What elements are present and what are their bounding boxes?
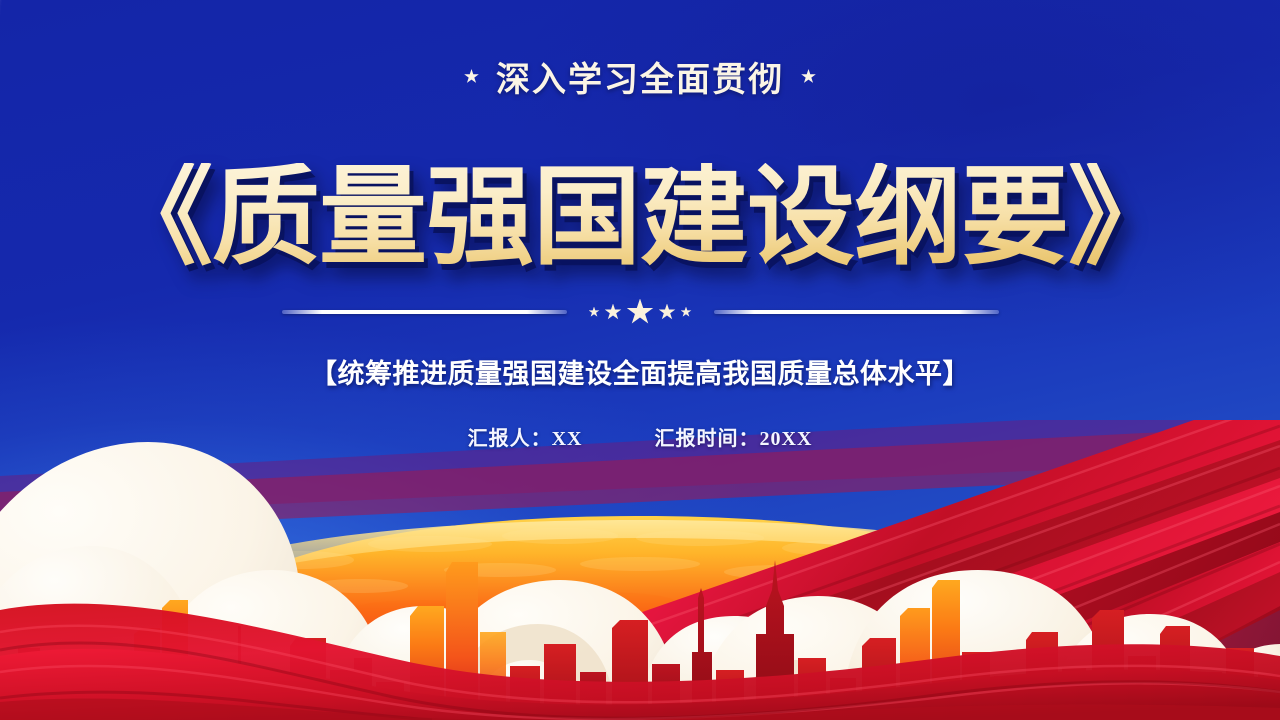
star-icon (659, 304, 676, 321)
eyebrow-text: 深入学习全面贯彻 (496, 52, 784, 101)
divider-rule-left (282, 310, 567, 314)
star-icon (464, 69, 479, 84)
divider (0, 296, 1280, 328)
eyebrow-heading: 深入学习全面贯彻 (0, 52, 1280, 101)
byline: 汇报人：XX 汇报时间：20XX (0, 422, 1280, 451)
star-icon (801, 69, 816, 84)
date-label: 汇报时间：20XX (655, 422, 813, 451)
page-title: 《质量强国建设纲要》 (105, 163, 1175, 271)
star-icon (681, 307, 692, 318)
bottom-illustration (0, 420, 1280, 720)
divider-rule-right (714, 310, 999, 314)
presentation-slide: 深入学习全面贯彻 《质量强国建设纲要》 【统筹推进质量强国建设全面提高我国质量总… (0, 0, 1280, 720)
title-container: 《质量强国建设纲要》 (0, 152, 1280, 282)
star-icon (605, 304, 622, 321)
presenter-label: 汇报人：XX (468, 422, 583, 451)
star-icon (589, 307, 600, 318)
divider-stars (589, 299, 692, 326)
star-icon (627, 299, 654, 326)
subtitle: 【统筹推进质量强国建设全面提高我国质量总体水平】 (0, 352, 1280, 391)
